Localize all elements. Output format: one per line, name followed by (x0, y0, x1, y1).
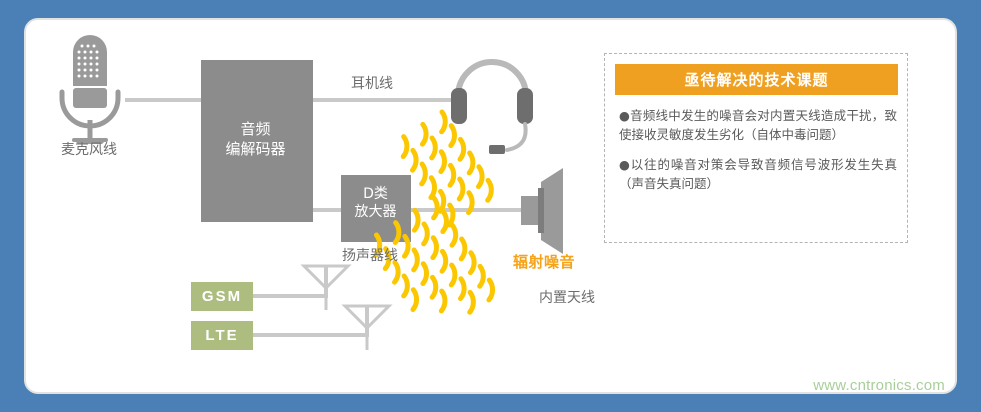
lte-block: LTE (191, 321, 253, 350)
internal-antenna-label: 内置天线 (539, 290, 595, 308)
diagram-stage: 音频 编解码器 D类 放大器 麦克风线 耳机线 扬声器线 内置天线 辐射噪音 G… (26, 20, 957, 394)
microphone-icon (62, 35, 118, 144)
gsm-to-antenna-line (253, 266, 326, 296)
technical-issue-bullet-1: ●音频线中发生的噪音会对内置天线造成干扰，致使接收灵敏度发生劣化（自体中毒问题） (619, 106, 897, 145)
speaker-cable-label: 扬声器线 (342, 248, 398, 266)
headphone-cable-label: 耳机线 (351, 76, 393, 94)
radiated-noise-label: 辐射噪音 (513, 253, 575, 272)
audio-codec-label: 音频 编解码器 (198, 120, 313, 159)
technical-issue-bullet-2: ●以往的噪音对策会导致音频信号波形发生失真（声音失真问题） (619, 155, 897, 194)
technical-issues-panel: 亟待解决的技术课题 ●音频线中发生的噪音会对内置天线造成干扰，致使接收灵敏度发生… (604, 53, 908, 243)
mic-cable-label: 麦克风线 (61, 142, 117, 160)
d-class-amplifier-label: D类 放大器 (340, 185, 411, 221)
technical-issues-header: 亟待解决的技术课题 (615, 64, 898, 95)
technical-issues-body: ●音频线中发生的噪音会对内置天线造成干扰，致使接收灵敏度发生劣化（自体中毒问题）… (619, 106, 897, 204)
gsm-block: GSM (191, 282, 253, 311)
speaker-icon (521, 168, 563, 254)
site-watermark: www.cntronics.com (813, 377, 945, 394)
diagram-card: 音频 编解码器 D类 放大器 麦克风线 耳机线 扬声器线 内置天线 辐射噪音 G… (24, 18, 957, 394)
